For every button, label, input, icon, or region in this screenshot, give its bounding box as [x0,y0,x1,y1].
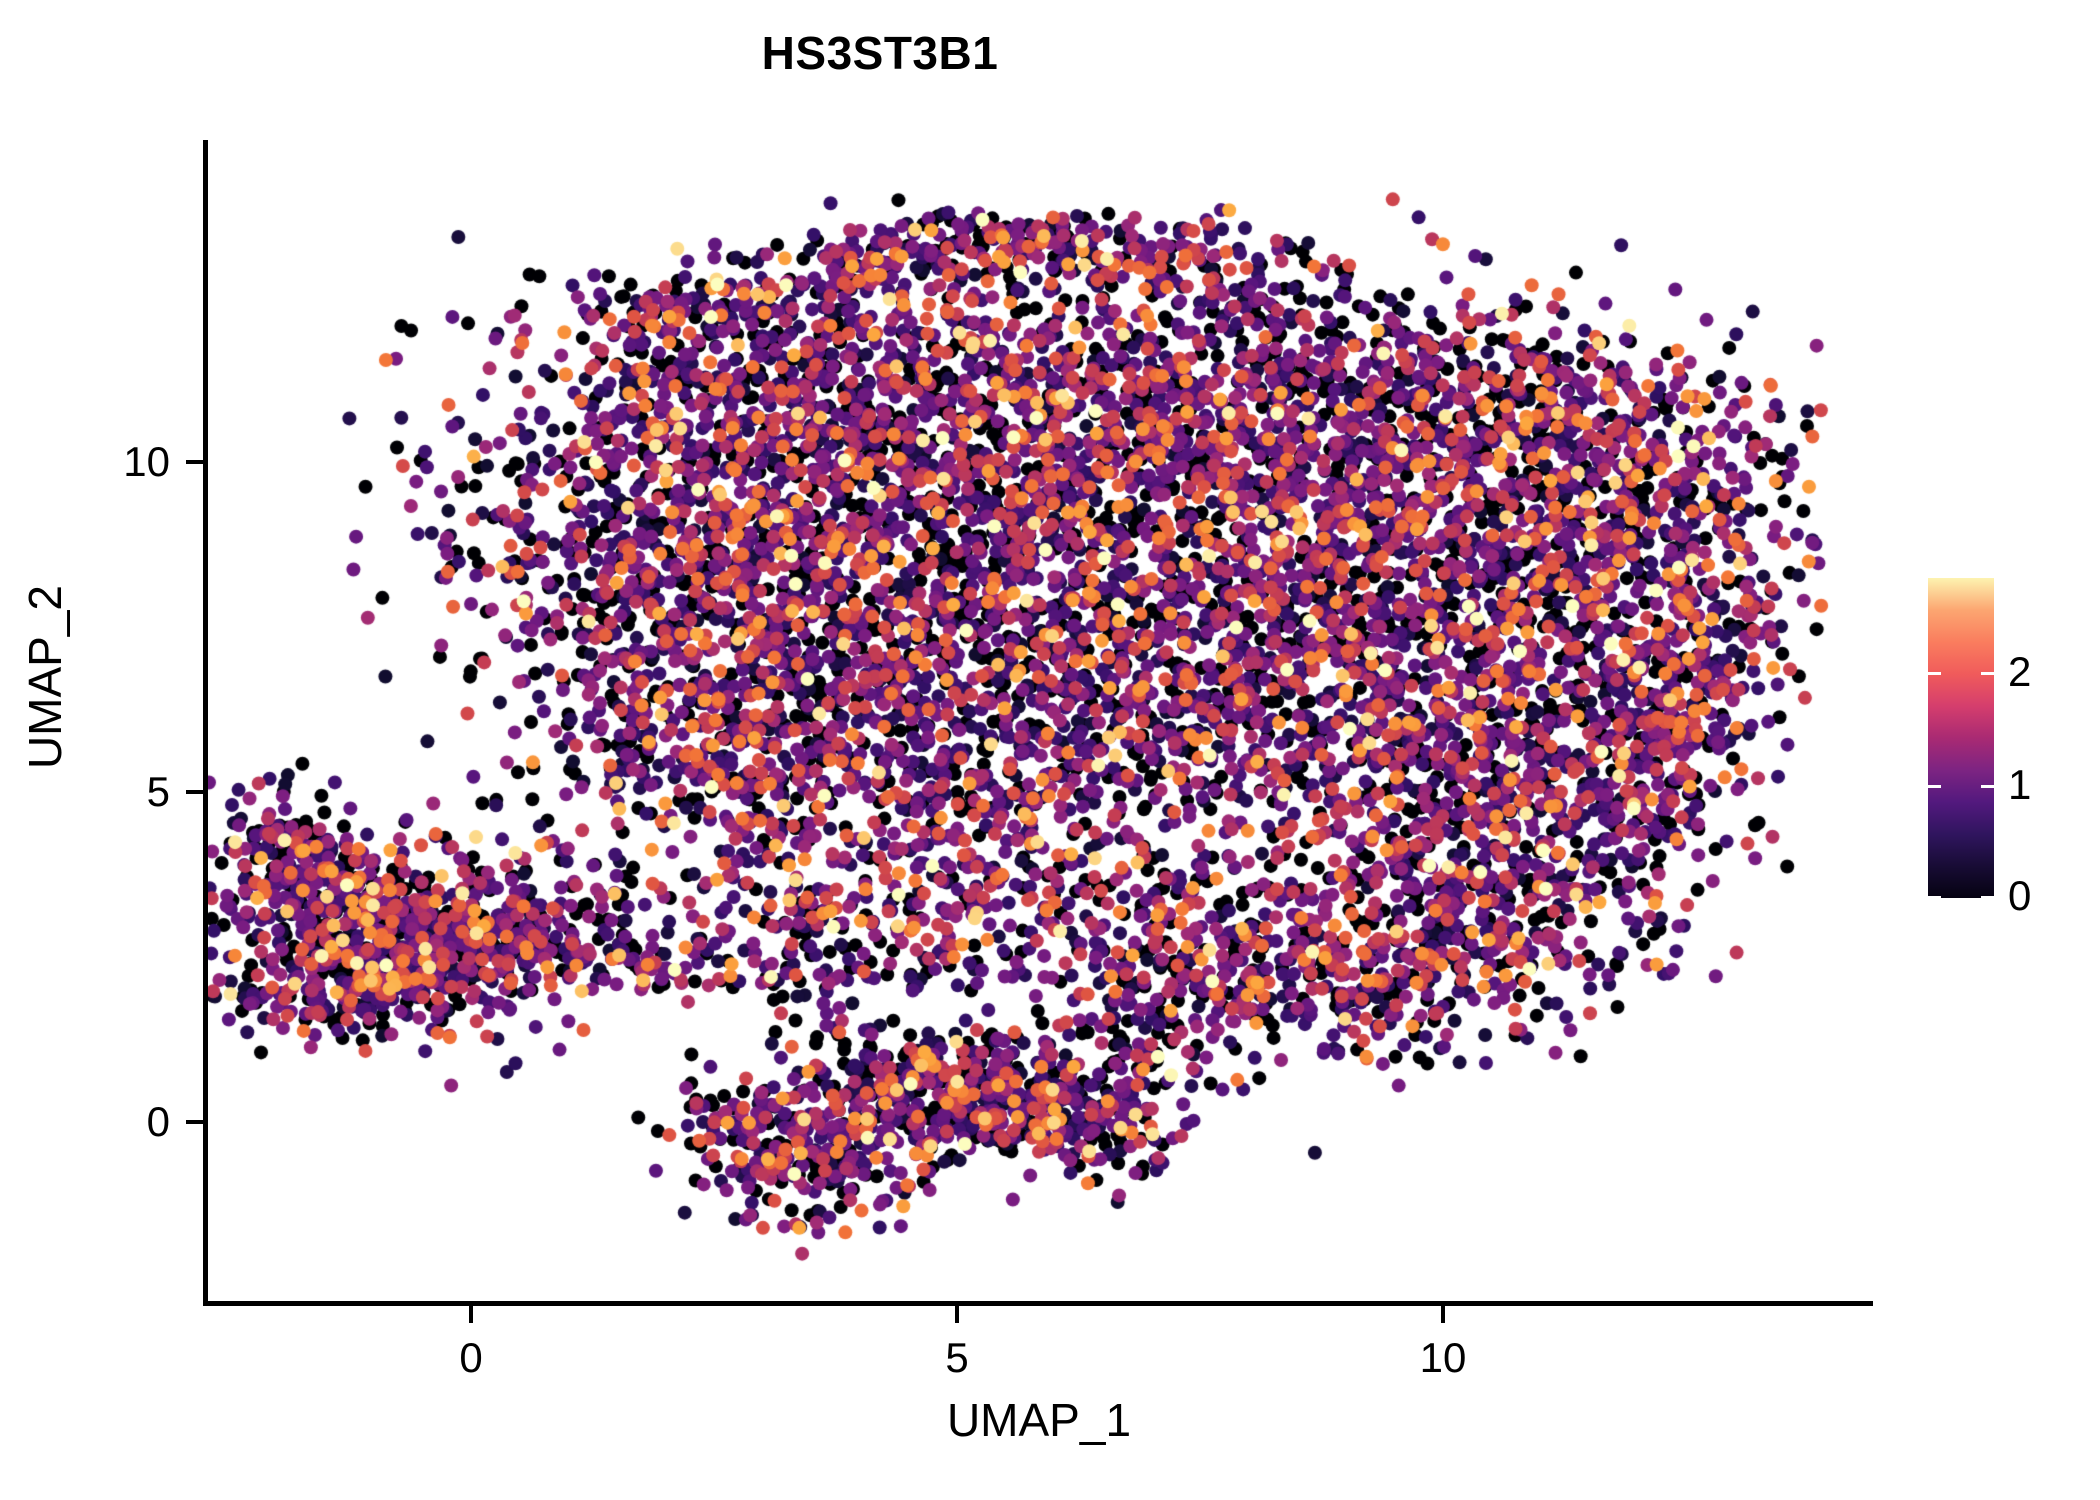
x-axis-ticklabel-5: 5 [945,1334,968,1382]
colorbar-tick-1-right [1981,785,1994,788]
y-axis-title: UMAP_2 [18,327,72,1027]
scatter-plot-canvas [205,140,1873,1304]
plot-panel [205,140,1873,1304]
x-axis-ticklabel-10: 10 [1420,1334,1467,1382]
x-axis-line [203,1301,1873,1306]
colorbar-tick-0-left [1928,896,1941,899]
y-axis-line [203,140,208,1306]
color-legend: 2 1 0 [1928,578,1994,898]
colorbar-label-0: 0 [2008,872,2031,920]
x-axis-ticklabel-0: 0 [459,1334,482,1382]
colorbar-tick-2-left [1928,672,1941,675]
y-axis-ticklabel-0: 0 [30,1098,170,1146]
y-axis-tick-0 [186,1120,203,1124]
x-axis-tick-10 [1441,1306,1445,1323]
colorbar-gradient [1928,578,1994,898]
colorbar-tick-2-right [1981,672,1994,675]
page-title: HS3ST3B1 [0,26,1760,80]
colorbar-label-2: 2 [2008,648,2031,696]
y-axis-tick-5 [186,790,203,794]
colorbar-tick-0-right [1981,896,1994,899]
x-axis-title: UMAP_1 [205,1393,1873,1447]
y-axis-tick-10 [186,460,203,464]
x-axis-tick-5 [955,1306,959,1323]
x-axis-tick-0 [469,1306,473,1323]
colorbar-tick-1-left [1928,785,1941,788]
colorbar-label-1: 1 [2008,761,2031,809]
umap-feature-plot: HS3ST3B1 10 5 0 0 5 10 UMAP_1 UMAP_2 2 1… [0,0,2100,1500]
